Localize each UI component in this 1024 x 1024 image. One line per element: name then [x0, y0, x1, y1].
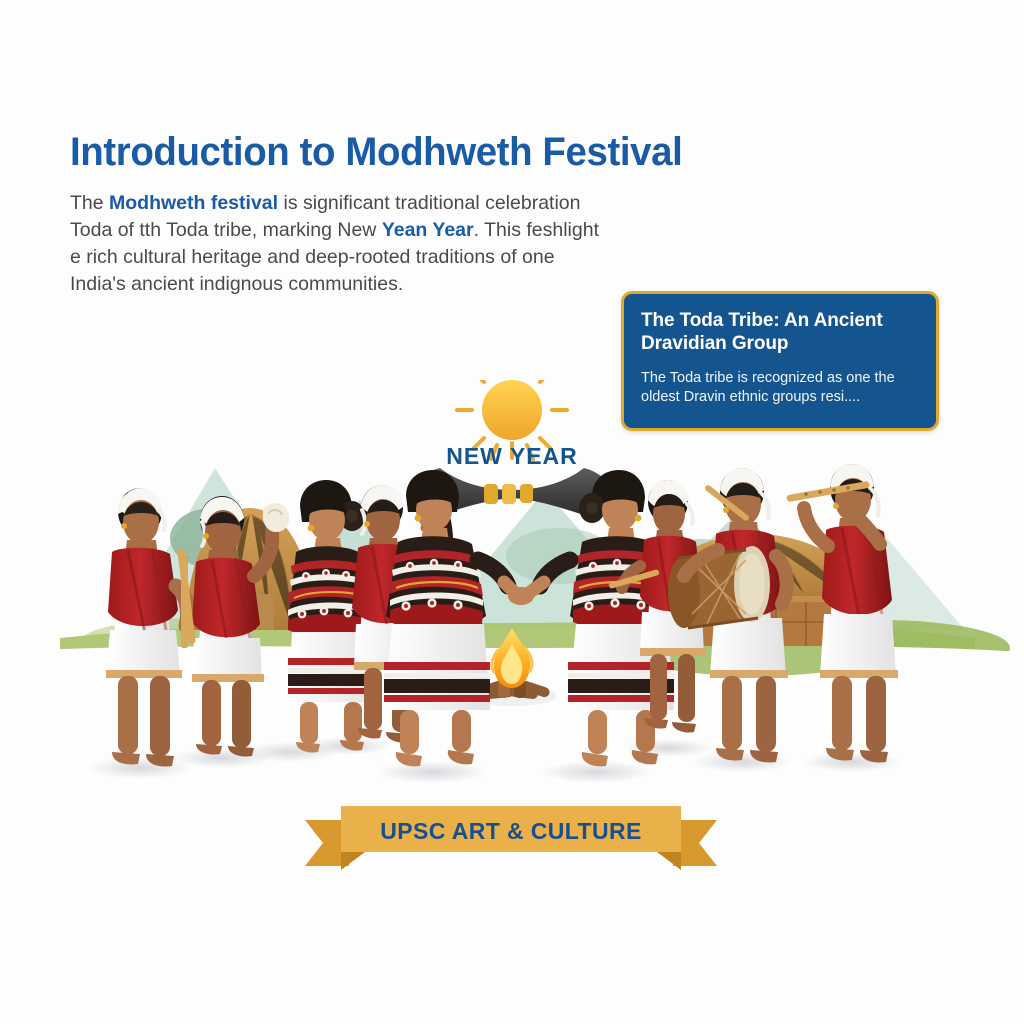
drum-icon: [668, 546, 770, 628]
info-card-title: The Toda Tribe: An Ancient Dravidian Gro…: [641, 309, 919, 355]
illustration-scene: NEW YEAR: [0, 380, 1024, 800]
intro-highlight-festival: Modhweth festival: [109, 192, 278, 214]
intro-paragraph: The Modhweth festival is significant tra…: [70, 190, 600, 298]
intro-highlight-newyear: Yean Year: [382, 219, 474, 241]
joined-hands: [508, 587, 534, 605]
new-year-label: NEW YEAR: [446, 443, 578, 469]
ribbon-label: UPSC ART & CULTURE: [305, 806, 717, 852]
intro-text-1: The: [70, 192, 109, 214]
page-title: Introduction to Modhweth Festival: [70, 131, 819, 173]
skirt-stripes: [384, 662, 490, 702]
infographic-page: Introduction to Modhweth Festival The Mo…: [0, 0, 1024, 1024]
ribbon-banner: UPSC ART & CULTURE: [305, 806, 717, 874]
